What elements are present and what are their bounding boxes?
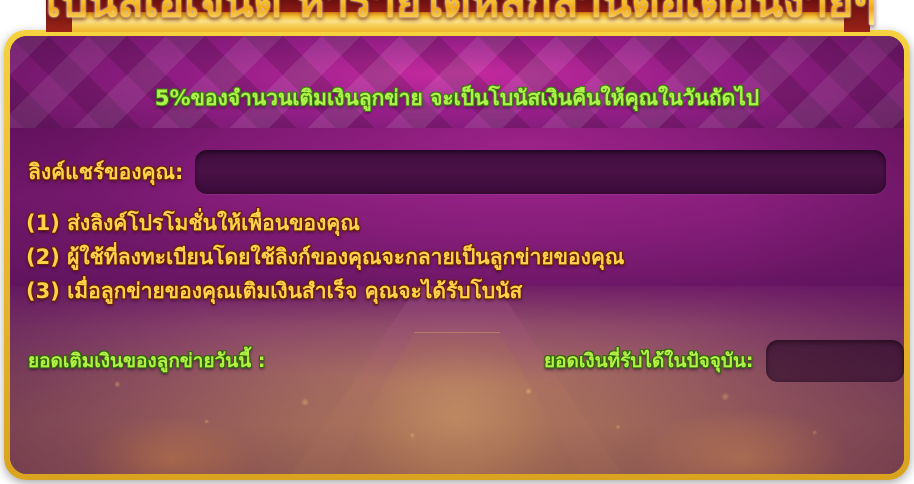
current-claimable-label: ยอดเงินที่รับได้ในปัจจุบัน: [544, 346, 754, 376]
promo-subtitle: 5%ของจำนวนเติมเงินลูกข่าย จะเป็นโบนัสเงิ… [10, 84, 904, 112]
promo-banner-stage: 5%ของจำนวนเติมเงินลูกข่าย จะเป็นโบนัสเงิ… [0, 0, 914, 484]
promo-content: 5%ของจำนวนเติมเงินลูกข่าย จะเป็นโบนัสเงิ… [10, 36, 904, 474]
instruction-step: (3) เมื่อลูกข่ายของคุณเติมเงินสำเร็จ คุณ… [26, 276, 886, 306]
share-link-label: ลิงค์แชร์ของคุณ: [28, 156, 183, 189]
promo-card-frame: 5%ของจำนวนเติมเงินลูกข่าย จะเป็นโบนัสเงิ… [4, 30, 910, 480]
promo-card-inner: 5%ของจำนวนเติมเงินลูกข่าย จะเป็นโบนัสเงิ… [10, 36, 904, 474]
instruction-step: (1) ส่งลิงค์โปรโมชั่นให้เพื่อนของคุณ [26, 208, 886, 238]
share-link-row: ลิงค์แชร์ของคุณ: [10, 144, 904, 200]
totals-row: ยอดเติมเงินของลูกข่ายวันนี้ : ยอดเงินที่… [10, 336, 904, 386]
instruction-step: (2) ผู้ใช้ที่ลงทะเบียนโดยใช้ลิงก์ของคุณจ… [26, 242, 886, 272]
promo-title: โบนัสเอเจนต์ หารายได้หลักล้านต่อเดือนง่า… [0, 0, 914, 30]
instruction-steps-list: (1) ส่งลิงค์โปรโมชั่นให้เพื่อนของคุณ (2)… [26, 208, 886, 310]
share-link-input[interactable] [195, 150, 886, 194]
current-claimable-value[interactable] [766, 340, 904, 382]
today-network-topup-label: ยอดเติมเงินของลูกข่ายวันนี้ : [28, 346, 265, 376]
